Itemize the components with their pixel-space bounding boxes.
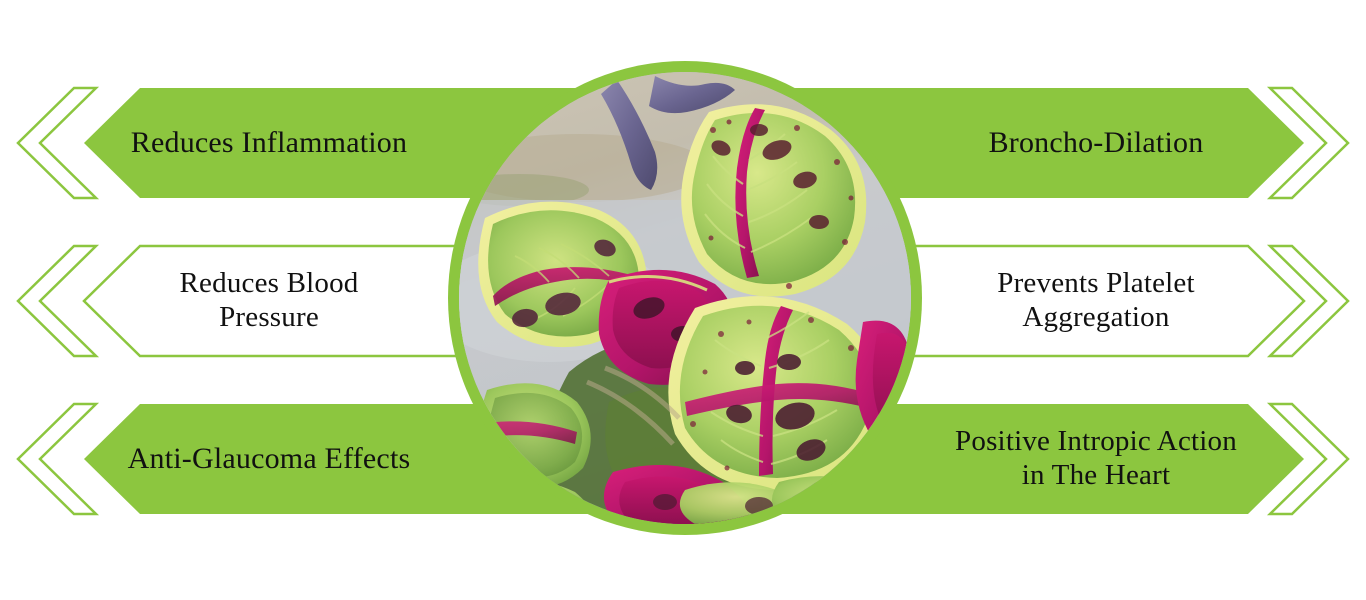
benefit-text-line-1: Prevents Platelet [997,267,1195,299]
infographic-canvas: Reduces Inflammation Broncho-Dilation Re… [0,0,1366,600]
benefit-text-line-1: Reduces Blood [180,267,359,299]
benefit-text: Reduces Inflammation [131,125,407,160]
benefit-text: Reduces Blood Pressure [180,267,359,335]
benefit-label-reduces-blood-pressure: Reduces Blood Pressure [74,244,464,358]
benefit-text: Broncho-Dilation [989,125,1204,160]
benefit-text-line-2: Pressure [219,301,319,333]
benefit-label-positive-intropic-action: Positive Intropic Action in The Heart [900,402,1292,516]
benefit-text-line-2: in The Heart [1022,459,1170,491]
benefit-text-line-2: Aggregation [1022,301,1169,333]
benefit-text-line-1: Positive Intropic Action [955,425,1237,457]
benefit-label-anti-glaucoma-effects: Anti-Glaucoma Effects [74,402,464,516]
benefit-text: Positive Intropic Action in The Heart [955,425,1237,493]
benefit-text: Prevents Platelet Aggregation [997,267,1195,335]
center-circle-frame [448,61,922,535]
coleus-plant-photo [459,72,911,524]
coleus-plant-illustration [459,72,911,524]
benefit-label-prevents-platelet-aggregation: Prevents Platelet Aggregation [900,244,1292,358]
benefit-label-reduces-inflammation: Reduces Inflammation [74,86,464,200]
benefit-text: Anti-Glaucoma Effects [128,441,411,476]
benefit-label-broncho-dilation: Broncho-Dilation [900,86,1292,200]
